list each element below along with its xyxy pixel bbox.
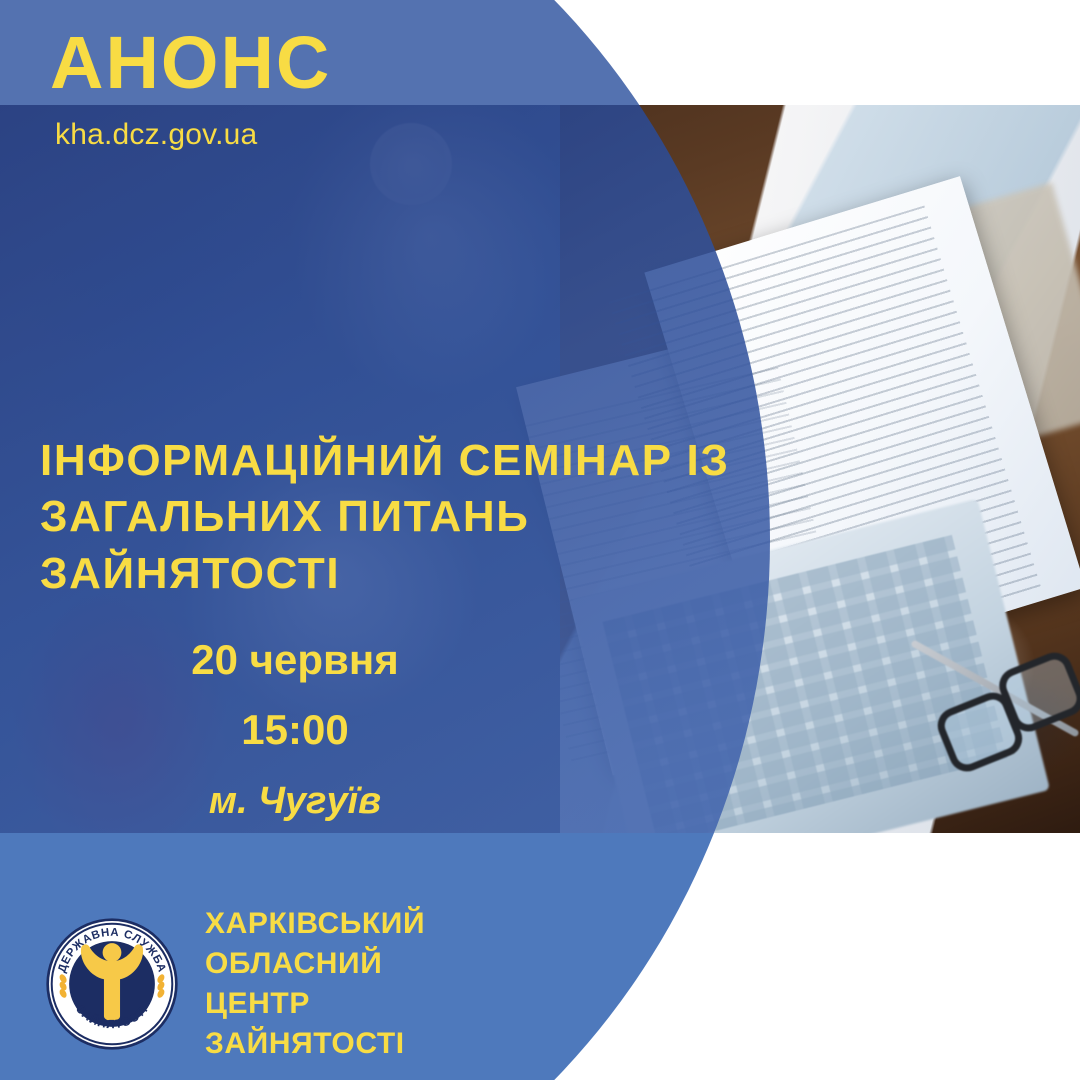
org-name-line-1: ХАРКІВСЬКИЙ <box>205 904 425 944</box>
footer: ДЕРЖАВНА СЛУЖБА ЗАЙНЯТОСТІ ХАРКІВСЬКИЙ О… <box>45 904 425 1064</box>
org-name-line-2: ОБЛАСНИЙ <box>205 944 425 984</box>
org-name-line-3: ЦЕНТР <box>205 984 425 1024</box>
announcement-poster: АНОНС kha.dcz.gov.ua ІНФОРМАЦІЙНИЙ СЕМІН… <box>0 0 1080 1080</box>
page-title: АНОНС <box>50 26 331 100</box>
organization-name: ХАРКІВСЬКИЙ ОБЛАСНИЙ ЦЕНТР ЗАЙНЯТОСТІ <box>205 904 425 1064</box>
state-employment-service-logo-icon: ДЕРЖАВНА СЛУЖБА ЗАЙНЯТОСТІ <box>45 917 179 1051</box>
org-name-line-4: ЗАЙНЯТОСТІ <box>205 1024 425 1064</box>
event-time: 15:00 <box>0 706 590 754</box>
website-url[interactable]: kha.dcz.gov.ua <box>55 118 257 152</box>
event-headline: ІНФОРМАЦІЙНИЙ СЕМІНАР ІЗ ЗАГАЛЬНИХ ПИТАН… <box>40 433 800 602</box>
event-location: м. Чугуїв <box>0 780 590 823</box>
event-date: 20 червня <box>0 636 590 684</box>
